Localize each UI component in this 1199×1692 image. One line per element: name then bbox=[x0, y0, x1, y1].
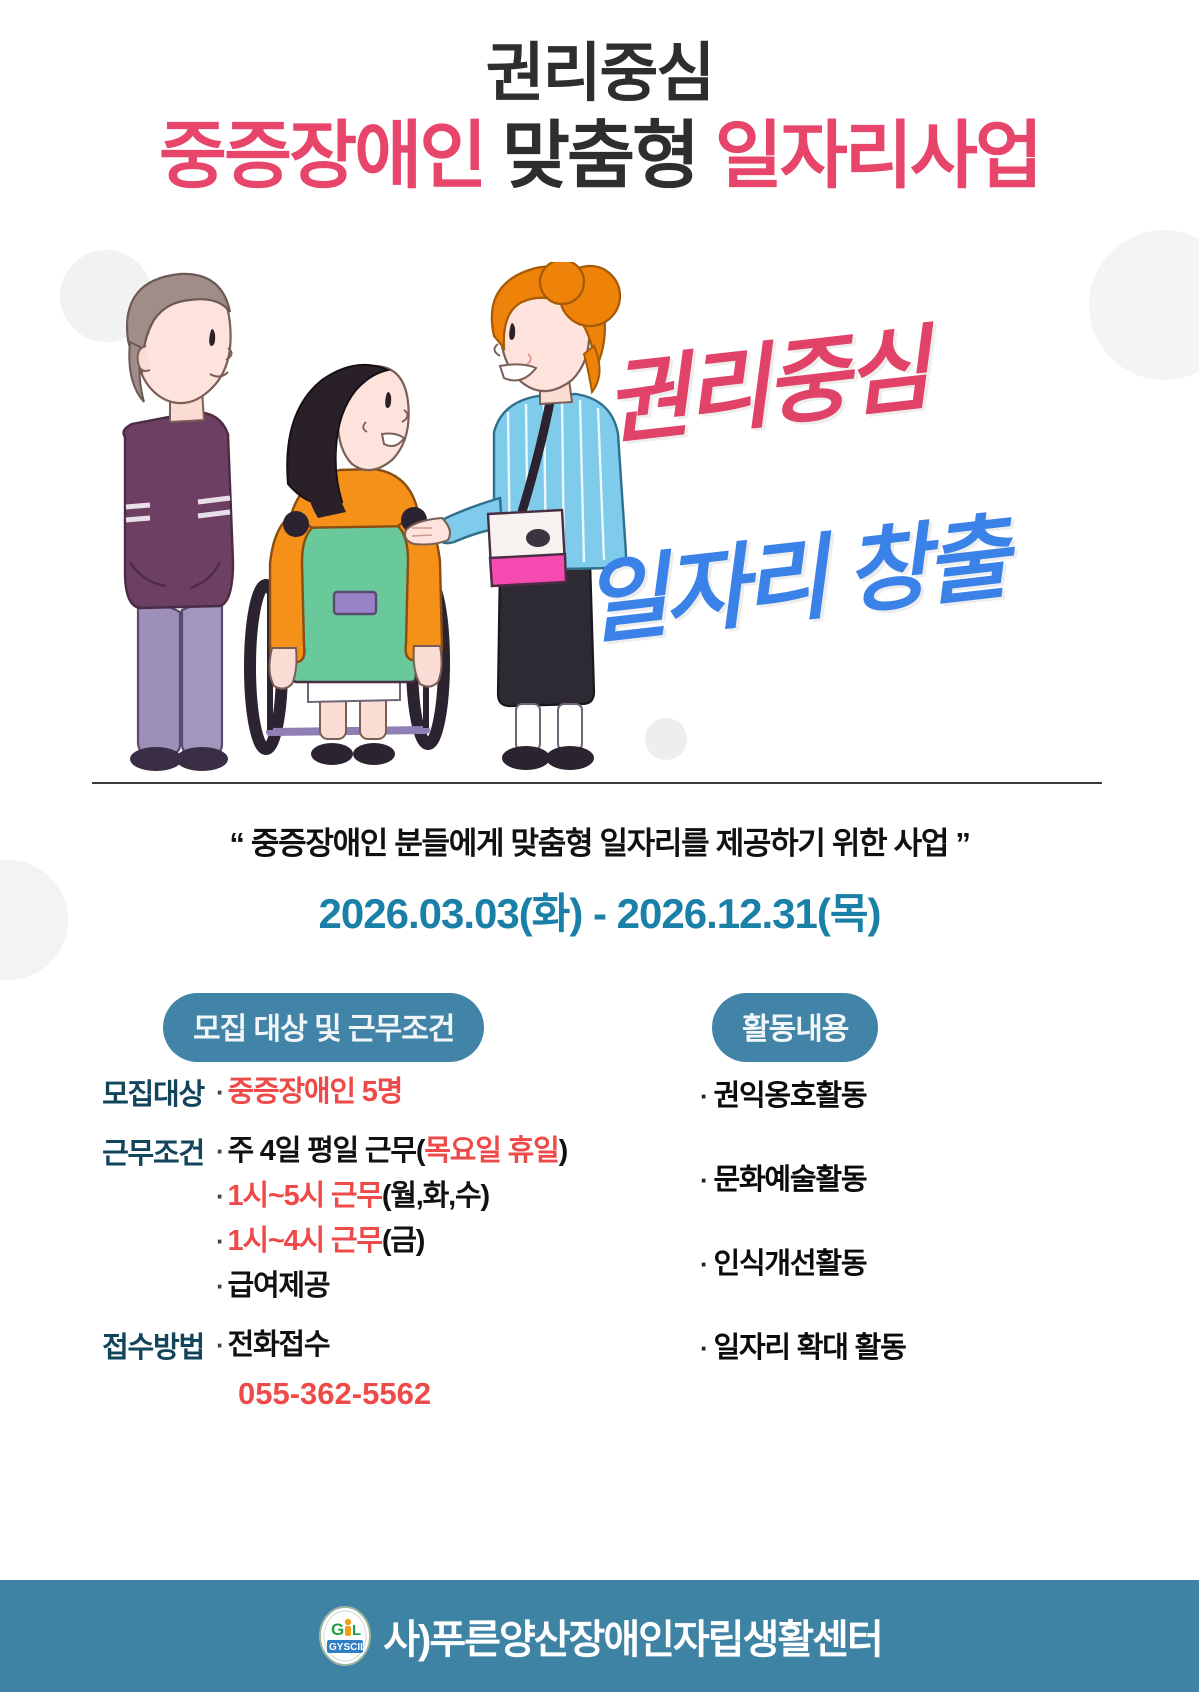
title-segment-iljari: 일자리사업 bbox=[715, 114, 1040, 197]
poster-title: 권리중심 중증장애인 맞춤형 일자리사업 bbox=[0, 40, 1199, 198]
detail-row-values: ·전화접수055-362-5562 bbox=[216, 1323, 431, 1421]
bullet-dot-icon: · bbox=[700, 1333, 707, 1363]
detail-text: (월,화,수) bbox=[382, 1180, 489, 1212]
detail-row: 모집대상·중증장애인 5명 bbox=[78, 1070, 678, 1115]
detail-text: 중증장애인 5명 bbox=[227, 1076, 402, 1108]
bullet-dot-icon: · bbox=[700, 1165, 707, 1195]
bullet-dot-icon: · bbox=[216, 1226, 223, 1256]
bullet-dot-icon: · bbox=[216, 1181, 223, 1211]
title-segment-matchum: 맞춤형 bbox=[502, 114, 697, 197]
detail-row-values: ·주 4일 평일 근무(목요일 휴일)·1시~5시 근무(월,화,수)·1시~4… bbox=[216, 1129, 567, 1309]
contact-phone-number[interactable]: 055-362-5562 bbox=[216, 1368, 431, 1421]
bullet-dot-icon: · bbox=[216, 1271, 223, 1301]
svg-text:GYSCIL: GYSCIL bbox=[329, 1642, 366, 1653]
activity-item: ·권익옹호활동 bbox=[700, 1072, 1130, 1114]
activity-label: 문화예술활동 bbox=[713, 1164, 866, 1196]
bullet-dot-icon: · bbox=[700, 1081, 707, 1111]
activity-item: ·일자리 확대 활동 bbox=[700, 1324, 1130, 1366]
section-divider bbox=[92, 782, 1102, 784]
detail-line: ·전화접수 bbox=[216, 1323, 431, 1368]
detail-text: 1시~4시 근무 bbox=[227, 1225, 381, 1257]
bullet-dot-icon: · bbox=[216, 1330, 223, 1360]
detail-row-label: 접수방법 bbox=[78, 1323, 204, 1366]
slogan-line-1: 권리중심 bbox=[597, 294, 933, 463]
detail-line: ·중증장애인 5명 bbox=[216, 1070, 402, 1115]
detail-line: ·급여제공 bbox=[216, 1264, 567, 1309]
detail-line: ·1시~5시 근무(월,화,수) bbox=[216, 1174, 567, 1219]
svg-text:G: G bbox=[331, 1620, 344, 1639]
activity-label: 일자리 확대 활동 bbox=[713, 1332, 905, 1364]
activity-list: ·권익옹호활동·문화예술활동·인식개선활동·일자리 확대 활동 bbox=[700, 1072, 1130, 1408]
program-date-range: 2026.03.03(화) - 2026.12.31(목) bbox=[0, 880, 1199, 941]
footer-bar: G L GYSCIL 사)푸른양산장애인자립생활센터 bbox=[0, 1580, 1199, 1692]
title-line-2: 중증장애인 맞춤형 일자리사업 bbox=[0, 113, 1199, 198]
detail-row-label: 근무조건 bbox=[78, 1129, 204, 1172]
activity-label: 권익옹호활동 bbox=[713, 1080, 866, 1112]
people-illustration bbox=[70, 262, 630, 782]
activity-label: 인식개선활동 bbox=[713, 1248, 866, 1280]
title-segment-jungjeung: 중증장애인 bbox=[159, 114, 484, 197]
detail-row-label: 모집대상 bbox=[78, 1070, 204, 1113]
recruitment-details: 모집대상·중증장애인 5명근무조건·주 4일 평일 근무(목요일 휴일)·1시~… bbox=[78, 1070, 678, 1434]
detail-row-values: ·중증장애인 5명 bbox=[216, 1070, 402, 1115]
detail-text: 1시~5시 근무 bbox=[227, 1180, 381, 1212]
detail-text: (금) bbox=[382, 1225, 424, 1257]
organization-name: 사)푸른양산장애인자립생활센터 bbox=[383, 1607, 882, 1665]
background-circle-center bbox=[645, 718, 687, 760]
detail-text: 급여제공 bbox=[227, 1270, 329, 1302]
detail-text: 주 4일 평일 근무( bbox=[227, 1135, 424, 1167]
detail-row: 근무조건·주 4일 평일 근무(목요일 휴일)·1시~5시 근무(월,화,수)·… bbox=[78, 1129, 678, 1309]
activity-item: ·문화예술활동 bbox=[700, 1156, 1130, 1198]
detail-text: 목요일 휴일 bbox=[424, 1135, 558, 1167]
section-header-recruitment: 모집 대상 및 근무조건 bbox=[163, 993, 484, 1062]
section-header-activities: 활동내용 bbox=[712, 993, 878, 1062]
title-line-1: 권리중심 bbox=[0, 40, 1199, 107]
organization-logo-icon: G L GYSCIL bbox=[317, 1605, 373, 1667]
bullet-dot-icon: · bbox=[700, 1249, 707, 1279]
detail-text: 전화접수 bbox=[227, 1329, 329, 1361]
background-circle-top-right bbox=[1089, 230, 1199, 380]
illustration-wheelchair-user bbox=[250, 365, 444, 765]
illustration-man-left bbox=[124, 274, 233, 771]
detail-text: ) bbox=[559, 1135, 567, 1167]
program-quote: “ 중증장애인 분들에게 맞춤형 일자리를 제공하기 위한 사업 ” bbox=[0, 818, 1199, 863]
bullet-dot-icon: · bbox=[216, 1136, 223, 1166]
detail-line: ·1시~4시 근무(금) bbox=[216, 1219, 567, 1264]
svg-text:L: L bbox=[352, 1622, 361, 1639]
activity-item: ·인식개선활동 bbox=[700, 1240, 1130, 1282]
slogan-line-2: 일자리 창출 bbox=[575, 483, 1012, 663]
bullet-dot-icon: · bbox=[216, 1077, 223, 1107]
detail-line: ·주 4일 평일 근무(목요일 휴일) bbox=[216, 1129, 567, 1174]
detail-row: 접수방법·전화접수055-362-5562 bbox=[78, 1323, 678, 1421]
